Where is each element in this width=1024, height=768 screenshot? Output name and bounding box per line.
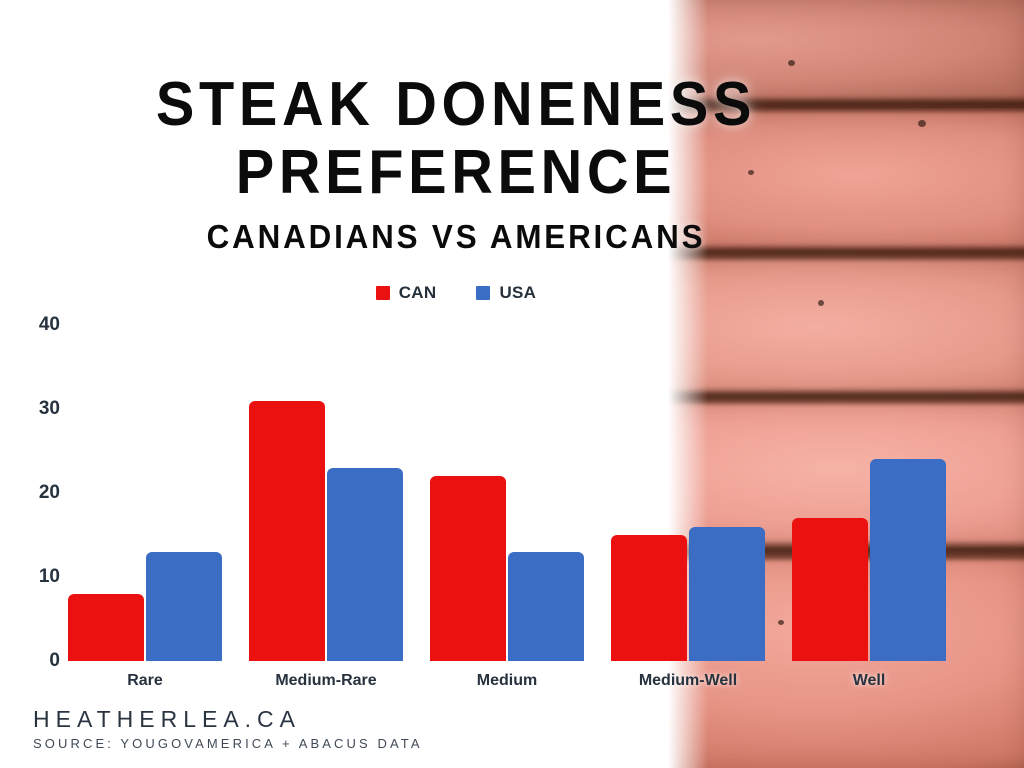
x-axis-category-label: Medium-Well [639,672,737,690]
y-axis-tick-label: 30 [14,398,60,420]
bar-can-medium-well[interactable] [611,535,687,661]
bar-usa-medium-rare[interactable] [327,468,403,661]
y-axis-tick-label: 10 [14,566,60,588]
bar-can-medium-rare[interactable] [249,401,325,661]
bar-usa-medium[interactable] [508,552,584,661]
bar-usa-medium-well[interactable] [689,527,765,661]
source-credit: SOURCE: YOUGOVAMERICA + ABACUS DATA [33,734,423,754]
bar-can-medium[interactable] [430,476,506,661]
y-axis-tick-label: 20 [14,482,60,504]
legend-swatch-icon [376,286,390,300]
legend-swatch-icon [476,286,490,300]
infographic-canvas: STEAK DONENESS PREFERENCE CANADIANS VS A… [0,0,1024,768]
title-block: STEAK DONENESS PREFERENCE CANADIANS VS A… [0,74,912,253]
chart-legend: CAN USA [0,283,912,303]
bar-can-well[interactable] [792,518,868,661]
y-axis-tick-label: 0 [14,650,60,672]
legend-label: CAN [399,283,437,303]
page-subtitle: CANADIANS VS AMERICANS [23,220,889,253]
brand-watermark: HEATHERLEA.CA [33,704,423,734]
footer: HEATHERLEA.CA SOURCE: YOUGOVAMERICA + AB… [33,704,423,754]
y-axis-tick-label: 40 [14,314,60,336]
legend-item-can[interactable]: CAN [376,283,437,303]
x-axis-category-label: Medium [477,672,537,690]
bar-usa-well[interactable] [870,459,946,661]
page-title-line-2: PREFERENCE [32,142,880,204]
bar-usa-rare[interactable] [146,552,222,661]
legend-label: USA [499,283,536,303]
legend-item-usa[interactable]: USA [476,283,536,303]
page-title-line-1: STEAK DONENESS [32,74,880,136]
x-axis-category-label: Rare [127,672,163,690]
x-axis-category-label: Medium-Rare [275,672,376,690]
bar-can-rare[interactable] [68,594,144,661]
x-axis-category-label: Well [853,672,886,690]
